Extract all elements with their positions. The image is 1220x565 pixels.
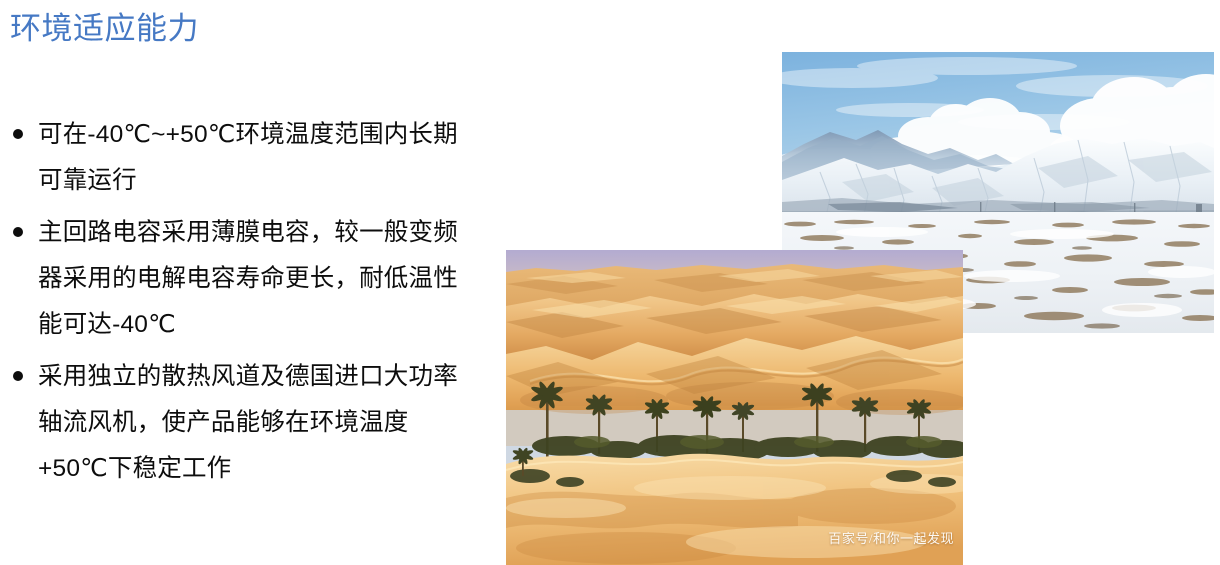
bullet-dot-icon: [13, 371, 23, 381]
list-item-label: 可在-40℃~+50℃环境温度范围内长期可靠运行: [38, 112, 478, 204]
list-item: 采用独立的散热风道及德国进口大功率轴流风机，使产品能够在环境温度+50℃下稳定工…: [8, 354, 478, 492]
bullet-dot-icon: [13, 227, 23, 237]
list-item-label: 主回路电容采用薄膜电容，较一般变频器采用的电解电容寿命更长，耐低温性能可达-40…: [38, 210, 478, 348]
bullet-dot-icon: [13, 129, 23, 139]
desert-dunes-photo: 百家号/和你一起发现: [506, 250, 963, 565]
image-watermark: 百家号/和你一起发现: [828, 531, 954, 547]
bullet-list: 可在-40℃~+50℃环境温度范围内长期可靠运行 主回路电容采用薄膜电容，较一般…: [8, 112, 478, 492]
slide-root: 环境适应能力 可在-40℃~+50℃环境温度范围内长期可靠运行 主回路电容采用薄…: [0, 0, 1220, 565]
desert-dunes-illustration: [506, 250, 963, 565]
list-item-label: 采用独立的散热风道及德国进口大功率轴流风机，使产品能够在环境温度+50℃下稳定工…: [38, 354, 478, 492]
list-item: 可在-40℃~+50℃环境温度范围内长期可靠运行: [8, 112, 478, 204]
list-item: 主回路电容采用薄膜电容，较一般变频器采用的电解电容寿命更长，耐低温性能可达-40…: [8, 210, 478, 348]
page-title: 环境适应能力: [10, 9, 199, 49]
